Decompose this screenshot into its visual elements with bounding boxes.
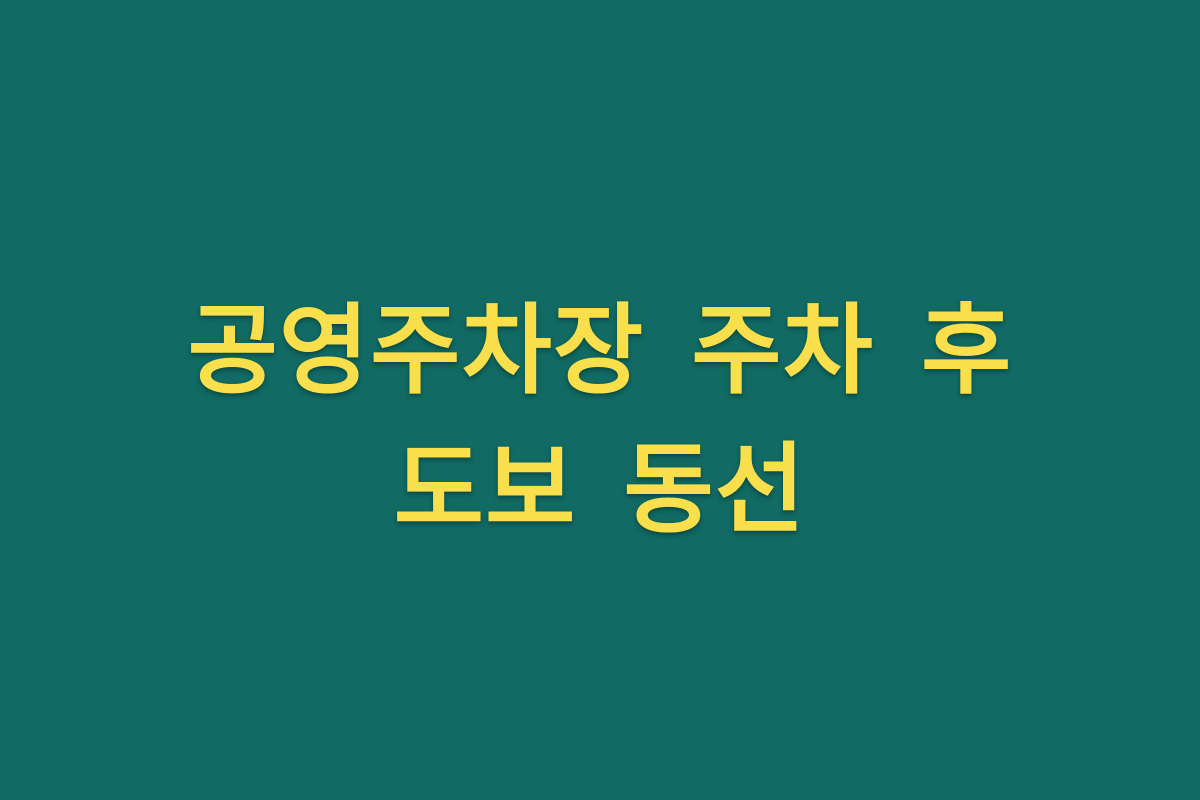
- banner-title: 공영주차장 주차 후 도보 동선: [105, 282, 1095, 560]
- banner-canvas: 공영주차장 주차 후 도보 동선: [0, 0, 1200, 800]
- title-block: 공영주차장 주차 후 도보 동선: [105, 282, 1095, 560]
